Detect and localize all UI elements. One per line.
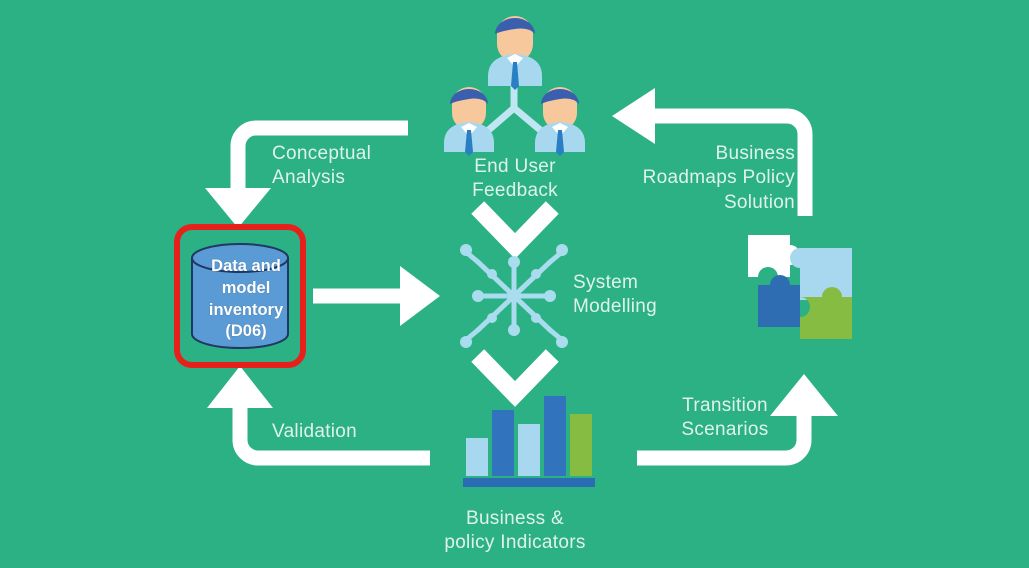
system-modelling-label: System Modelling [573,271,743,320]
business-policy-indicators-label: Business & policy Indicators [425,507,605,556]
validation-label: Validation [272,420,442,444]
business-roadmaps-label: Business Roadmaps Policy Solution [600,142,795,215]
enduser-to-system-chevron [484,214,546,246]
conceptual-analysis-label: Conceptual Analysis [272,142,442,191]
database-to-system-arrow [313,266,440,326]
diagram-vector-layer [0,0,1029,568]
database-label: Data and model inventory (D06) [180,256,312,343]
bar-chart-icon [463,396,595,487]
three-people-network-icon [444,16,585,156]
network-nodes-icon [460,244,568,348]
diagram-canvas: Data and model inventory (D06) Conceptua… [0,0,1029,568]
database-highlight-box[interactable]: Data and model inventory (D06) [174,224,306,368]
end-user-feedback-label: End User Feedback [435,155,595,204]
transition-scenarios-label: Transition Scenarios [655,394,795,443]
system-to-indicators-chevron [484,362,546,394]
puzzle-pieces-icon [748,235,852,339]
